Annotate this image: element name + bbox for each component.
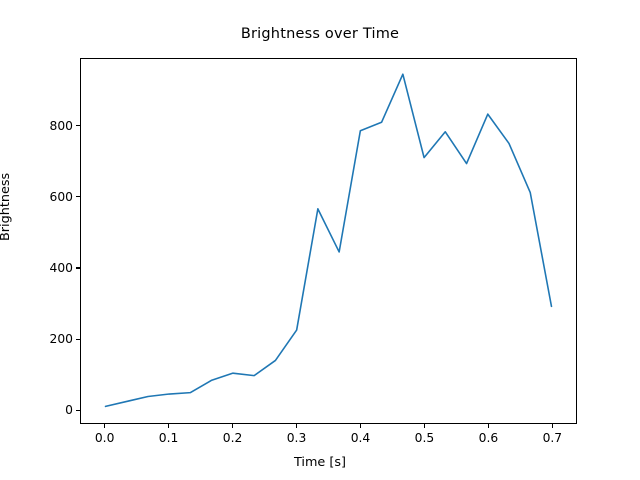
x-tick-mark bbox=[104, 424, 105, 428]
x-tick-label: 0.4 bbox=[351, 431, 371, 445]
x-tick-mark bbox=[424, 424, 425, 428]
y-tick-label: 0 bbox=[65, 403, 73, 417]
x-tick-label: 0.1 bbox=[159, 431, 179, 445]
x-tick-mark bbox=[168, 424, 169, 428]
x-tick-label: 0.6 bbox=[479, 431, 499, 445]
x-tick-mark bbox=[488, 424, 489, 428]
x-tick-mark bbox=[552, 424, 553, 428]
x-tick-mark bbox=[296, 424, 297, 428]
plot-area bbox=[80, 58, 577, 424]
x-tick-label: 0.2 bbox=[223, 431, 243, 445]
data-line-svg bbox=[81, 59, 576, 423]
x-tick-mark bbox=[232, 424, 233, 428]
x-tick-label: 0.3 bbox=[287, 431, 307, 445]
brightness-line-series bbox=[106, 74, 552, 406]
y-tick-label: 600 bbox=[50, 190, 73, 204]
x-tick-label: 0.7 bbox=[543, 431, 563, 445]
matplotlib-figure: Brightness over Time Brightness Time [s]… bbox=[0, 0, 640, 480]
x-tick-mark bbox=[360, 424, 361, 428]
y-tick-label: 400 bbox=[50, 261, 73, 275]
chart-title: Brightness over Time bbox=[0, 26, 640, 42]
y-axis-label: Brightness bbox=[0, 173, 13, 241]
y-tick-label: 800 bbox=[50, 119, 73, 133]
x-tick-label: 0.0 bbox=[95, 431, 115, 445]
y-tick-label: 200 bbox=[50, 332, 73, 346]
x-axis-label: Time [s] bbox=[0, 455, 640, 470]
x-tick-label: 0.5 bbox=[415, 431, 435, 445]
